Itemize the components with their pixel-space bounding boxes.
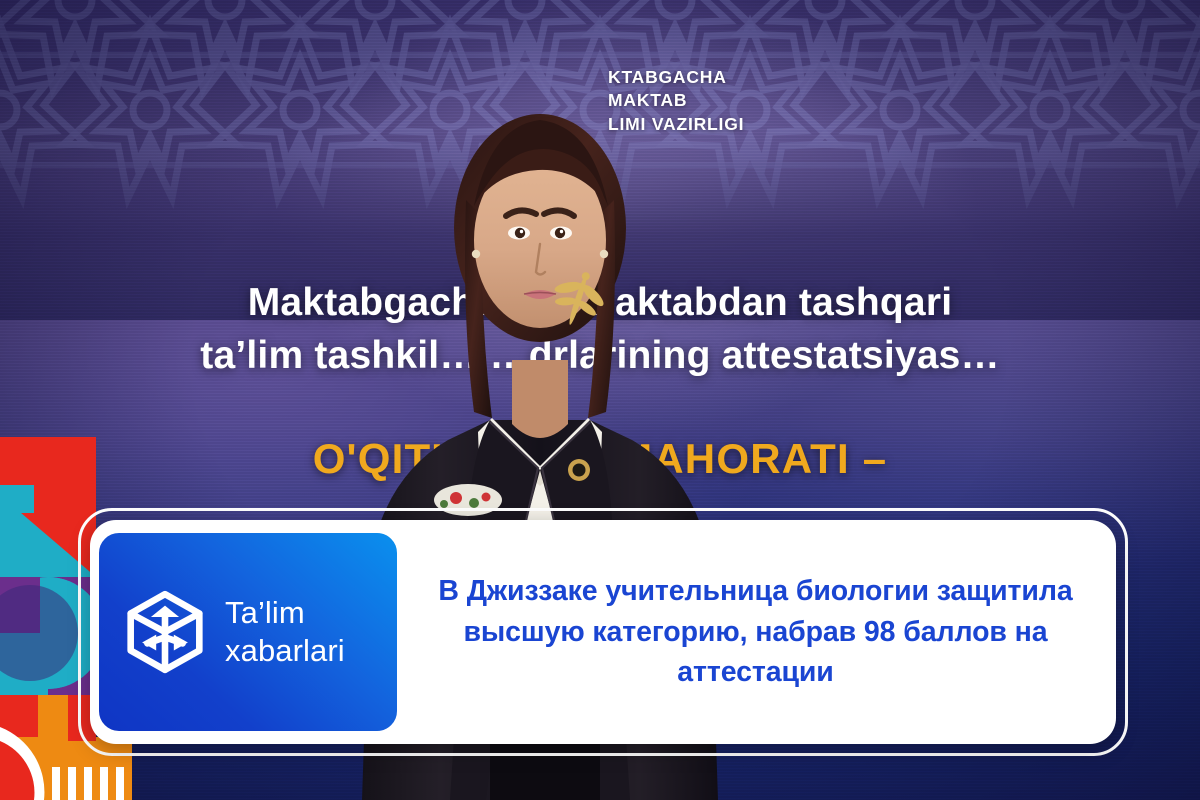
caption-card: Ta’lim xabarlari В Джиззаке учительница …: [90, 520, 1116, 744]
news-banner-image: KTABGACHA MAKTAB LIMI VAZIRLIGI Maktabga…: [0, 0, 1200, 800]
brand-line-2: xabarlari: [225, 632, 345, 670]
brand-logo-box[interactable]: Ta’lim xabarlari: [97, 531, 399, 733]
brand-logo-text: Ta’lim xabarlari: [225, 594, 345, 670]
news-headline: В Джиззаке учительница биологии защитила…: [399, 571, 1116, 692]
brand-line-1: Ta’lim: [225, 594, 345, 632]
cube-arrows-icon: [121, 588, 209, 676]
